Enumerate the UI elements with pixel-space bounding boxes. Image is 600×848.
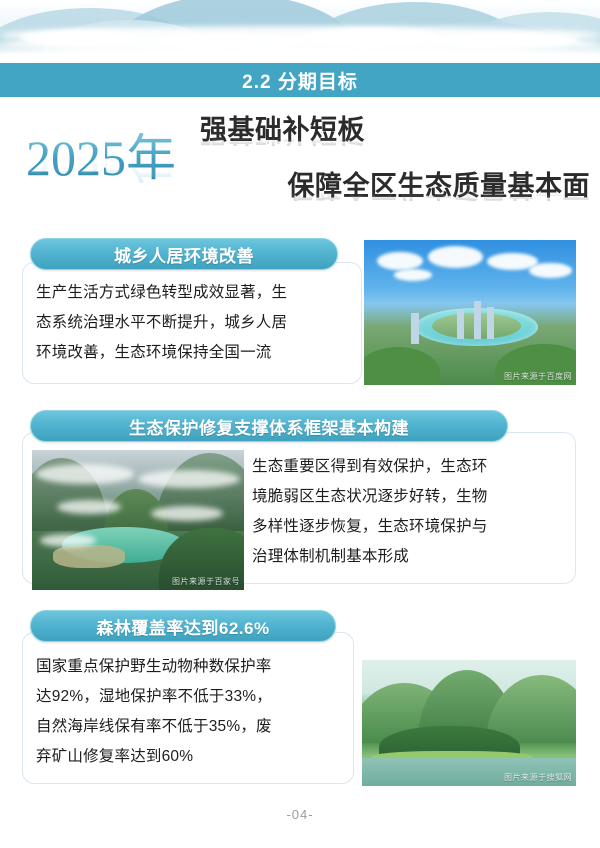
block-3-body-text: 国家重点保护野生动物种数保护率 达92%，湿地保护率不低于33%， 自然海岸线保… [36, 652, 348, 772]
photo-3-watermark: 图片来源于搜狐网 [504, 772, 572, 783]
aerial-city-river-photo: 图片来源于百度网 [364, 240, 576, 385]
block-1-pill[interactable]: 城乡人居环境改善 [30, 238, 338, 270]
cloud-icon [529, 263, 571, 278]
section-title-banner: 2.2 分期目标 [0, 63, 600, 97]
block-1-pill-label: 城乡人居环境改善 [114, 242, 254, 267]
skyscraper-icon [487, 307, 494, 339]
skyscraper-icon [474, 301, 480, 339]
hero-heading-line-2: 保障全区生态质量基本面 保障全区生态质量基本面 [200, 172, 590, 220]
block-3-pill[interactable]: 森林覆盖率达到62.6% [30, 610, 336, 642]
foliage-shape [364, 347, 440, 385]
hero-heading-line-2-reflection: 保障全区生态质量基本面 [200, 183, 590, 201]
section-title-text: 2.2 分期目标 [242, 67, 358, 94]
mist-icon [40, 534, 95, 547]
block-2-pill[interactable]: 生态保护修复支撑体系框架基本构建 [30, 410, 508, 442]
block-2-body-text: 生态重要区得到有效保护，生态环 境脆弱区生态状况逐步好转，生物 多样性逐步恢复，… [252, 452, 572, 572]
mist-icon [138, 470, 240, 488]
mist-icon [36, 464, 134, 484]
header-haze-overlay [0, 41, 600, 63]
river-gorge-mountains-photo: 图片来源于百家号 [32, 450, 244, 590]
block-1-body-text: 生产生活方式绿色转型成效显著，生 态系统治理水平不断提升，城乡人居 环境改善，生… [36, 278, 348, 368]
cloud-icon [428, 246, 483, 268]
forest-lake-hills-photo: 图片来源于搜狐网 [362, 660, 576, 786]
hero-heading-group: 强基础补短板 强基础补短板 保障全区生态质量基本面 保障全区生态质量基本面 [200, 116, 590, 219]
year-label-reflection: 2025年 [26, 133, 206, 183]
block-2-pill-label: 生态保护修复支撑体系框架基本构建 [129, 414, 409, 439]
cloud-icon [394, 269, 432, 281]
photo-1-watermark: 图片来源于百度网 [504, 371, 572, 382]
sandbank-shape [53, 545, 125, 567]
skyscraper-icon [411, 313, 419, 345]
slide-page: 2.2 分期目标 2025年 2025年 强基础补短板 强基础补短板 保障全区生… [0, 0, 600, 848]
page-number: -04- [0, 807, 600, 822]
skyscraper-icon [457, 310, 463, 339]
hero-heading-line-1-reflection: 强基础补短板 [200, 128, 590, 146]
photo-2-watermark: 图片来源于百家号 [172, 576, 240, 587]
year-watermark: 2025年 2025年 [26, 133, 206, 223]
hero-heading-line-1: 强基础补短板 强基础补短板 [200, 116, 590, 164]
cloud-icon [377, 252, 424, 271]
header-mountain-image [0, 0, 600, 63]
block-3-pill-label: 森林覆盖率达到62.6% [96, 614, 269, 639]
